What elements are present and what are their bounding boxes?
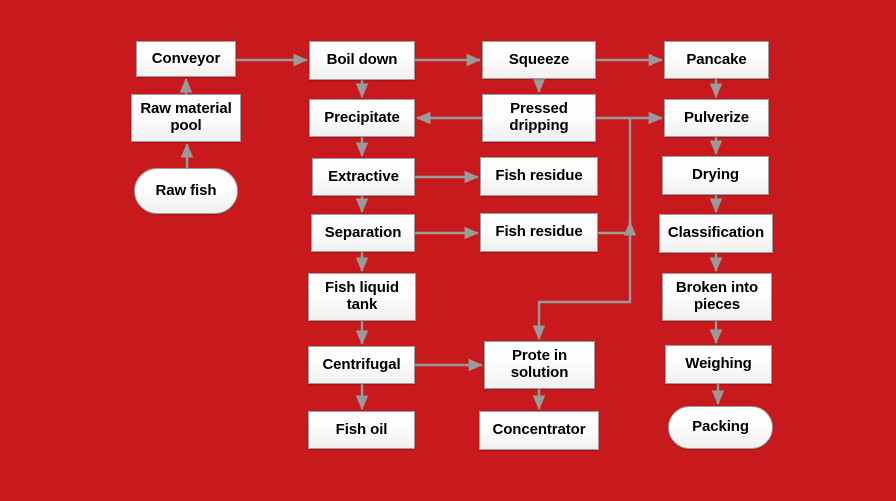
node-label-boil-down: Boil down [327, 52, 398, 69]
node-drying[interactable]: Drying [662, 156, 769, 195]
node-label-broken-pieces: Broken into pieces [676, 280, 758, 314]
node-pancake[interactable]: Pancake [664, 41, 769, 79]
node-label-squeeze: Squeeze [509, 52, 569, 69]
node-label-raw-material: Raw material pool [140, 101, 231, 135]
node-fish-liquid[interactable]: Fish liquid tank [308, 273, 416, 321]
node-separation[interactable]: Separation [311, 214, 415, 252]
node-label-pancake: Pancake [686, 52, 746, 69]
node-label-fish-residue-1: Fish residue [495, 168, 582, 185]
node-fish-residue-2[interactable]: Fish residue [480, 213, 598, 252]
node-squeeze[interactable]: Squeeze [482, 41, 596, 79]
node-label-concentrator: Concentrator [493, 422, 586, 439]
node-broken-pieces[interactable]: Broken into pieces [662, 273, 772, 321]
node-label-packing: Packing [692, 419, 749, 436]
node-fish-oil[interactable]: Fish oil [308, 411, 415, 449]
connector-residue2-to-riser [598, 222, 630, 233]
node-label-classification: Classification [668, 225, 764, 242]
node-fish-residue-1[interactable]: Fish residue [480, 157, 598, 196]
node-weighing[interactable]: Weighing [665, 345, 772, 384]
node-label-fish-residue-2: Fish residue [495, 224, 582, 241]
node-label-centrifugal: Centrifugal [322, 357, 400, 374]
node-precipitate[interactable]: Precipitate [309, 99, 415, 137]
node-label-fish-liquid: Fish liquid tank [325, 280, 399, 314]
node-raw-material[interactable]: Raw material pool [131, 94, 241, 142]
node-raw-fish[interactable]: Raw fish [134, 168, 238, 214]
node-label-weighing: Weighing [685, 356, 751, 373]
node-label-drying: Drying [692, 167, 739, 184]
node-label-separation: Separation [325, 225, 402, 242]
node-label-pulverize: Pulverize [684, 110, 749, 127]
node-label-fish-oil: Fish oil [336, 422, 388, 439]
node-packing[interactable]: Packing [668, 406, 773, 449]
node-protein-sol[interactable]: Prote in solution [484, 341, 595, 389]
node-label-protein-sol: Prote in solution [511, 348, 569, 382]
flowchart-canvas: ConveyorRaw material poolRaw fishBoil do… [0, 0, 896, 501]
node-boil-down[interactable]: Boil down [309, 41, 415, 80]
node-centrifugal[interactable]: Centrifugal [308, 346, 415, 384]
node-label-conveyor: Conveyor [152, 51, 220, 68]
node-label-pressed-drip: Pressed dripping [509, 101, 568, 135]
node-classification[interactable]: Classification [659, 214, 773, 253]
node-conveyor[interactable]: Conveyor [136, 41, 236, 77]
node-label-precipitate: Precipitate [324, 110, 400, 127]
node-pulverize[interactable]: Pulverize [664, 99, 769, 137]
node-extractive[interactable]: Extractive [312, 158, 415, 196]
node-label-raw-fish: Raw fish [156, 183, 217, 200]
node-label-extractive: Extractive [328, 169, 399, 186]
node-pressed-drip[interactable]: Pressed dripping [482, 94, 596, 142]
node-concentrator[interactable]: Concentrator [479, 411, 599, 450]
